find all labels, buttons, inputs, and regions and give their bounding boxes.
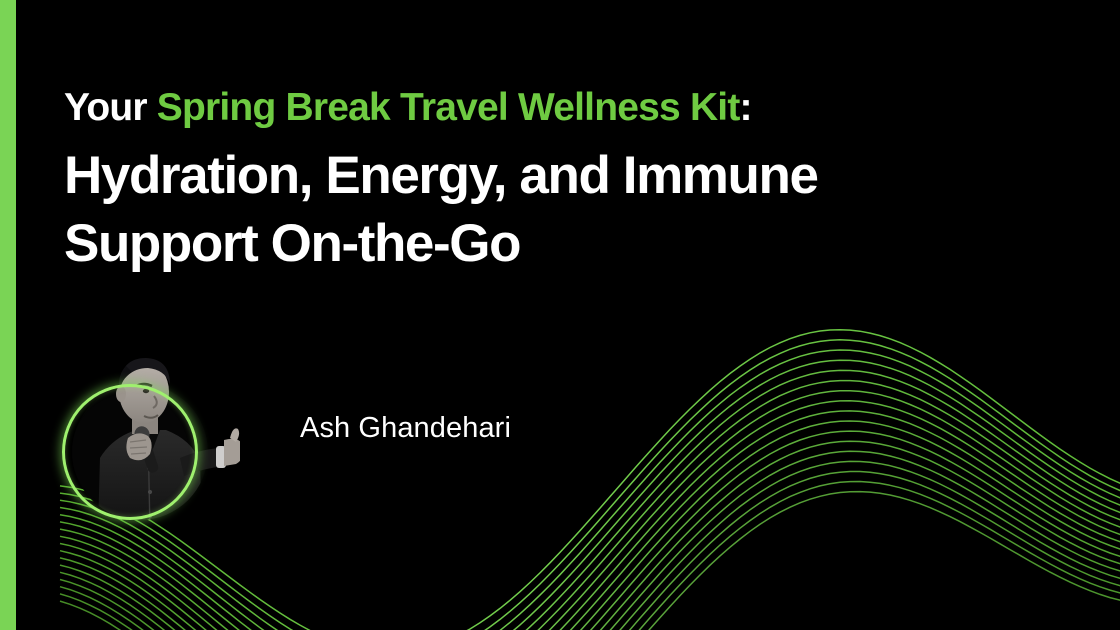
eyebrow-colon: : xyxy=(740,86,752,129)
headline: Hydration, Energy, and Immune Support On… xyxy=(64,142,1074,280)
eyebrow-prefix: Your xyxy=(64,86,157,129)
speaker-name: Ash Ghandehari xyxy=(300,412,511,445)
avatar-green-ring xyxy=(62,384,198,520)
eyebrow-line: Your Spring Break Travel Wellness Kit: xyxy=(64,84,1074,132)
presentation-slide: Your Spring Break Travel Wellness Kit: H… xyxy=(0,0,1120,630)
title-block: Your Spring Break Travel Wellness Kit: H… xyxy=(64,84,1074,279)
headline-line-2: Support On-the-Go xyxy=(64,210,1074,279)
headline-line-1: Hydration, Energy, and Immune xyxy=(64,142,1074,211)
avatar xyxy=(58,332,218,524)
eyebrow-highlight: Spring Break Travel Wellness Kit xyxy=(157,86,740,129)
speaker-row: Ash Ghandehari xyxy=(58,332,511,524)
left-green-accent-bar xyxy=(0,0,16,630)
